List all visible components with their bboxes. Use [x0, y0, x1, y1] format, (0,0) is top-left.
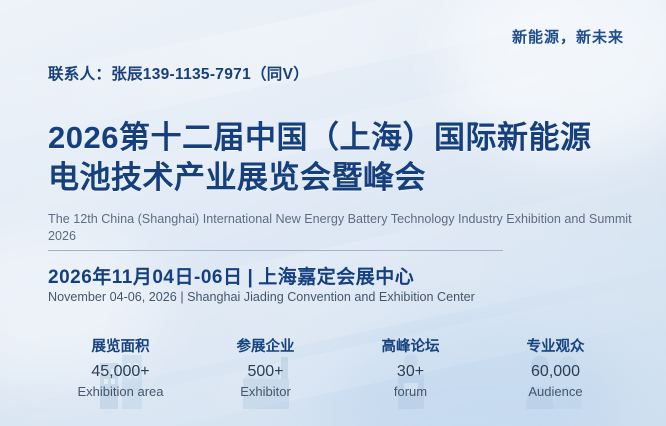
page-title: 2026第十二届中国（上海）国际新能源 电池技术产业展览会暨峰会 — [48, 118, 648, 197]
stat-sub: Exhibition area — [48, 384, 193, 399]
podium-icon — [378, 349, 444, 416]
event-date-cn: 2026年11月04日-06日 — [48, 267, 242, 288]
stat-label: 高峰论坛 — [338, 335, 483, 356]
stats-row: 展览面积 45,000+ Exhibition area 参展企业 500+ E… — [48, 335, 628, 399]
tagline: 新能源，新未来 — [512, 26, 624, 47]
event-venue-cn: 上海嘉定会展中心 — [258, 267, 414, 288]
stat-label: 专业观众 — [483, 335, 628, 356]
title-line-1: 2026第十二届中国（上海）国际新能源 — [48, 120, 591, 155]
stat-label: 展览面积 — [48, 335, 193, 356]
people-icon — [518, 349, 594, 416]
title-english: The 12th China (Shanghai) International … — [48, 211, 638, 246]
stat-sub: Exhibitor — [193, 384, 338, 399]
factory-icon — [233, 349, 299, 416]
stat-value: 60,000 — [483, 363, 628, 381]
stat-sub: Audience — [483, 384, 628, 399]
contact-info: 联系人：张辰139-1135-7971（同V） — [48, 62, 309, 84]
stat-value: 500+ — [193, 363, 338, 381]
building-icon — [88, 349, 154, 416]
poster-canvas: 新能源，新未来 联系人：张辰139-1135-7971（同V） 2026第十二届… — [0, 0, 666, 426]
stat-item: 高峰论坛 30+ forum — [338, 335, 483, 399]
title-line-2: 电池技术产业展览会暨峰会 — [48, 158, 648, 198]
stat-sub: forum — [338, 384, 483, 399]
stat-label: 参展企业 — [193, 335, 338, 356]
stat-item: 展览面积 45,000+ Exhibition area — [48, 335, 193, 399]
stat-item: 专业观众 60,000 Audience — [483, 335, 628, 399]
stat-item: 参展企业 500+ Exhibitor — [193, 335, 338, 399]
event-date-venue-en: November 04-06, 2026 | Shanghai Jiading … — [48, 290, 475, 304]
date-venue-separator: | — [247, 267, 253, 288]
stat-value: 45,000+ — [48, 363, 193, 381]
event-date-venue-cn: 2026年11月04日-06日|上海嘉定会展中心 — [48, 262, 414, 289]
divider — [48, 250, 503, 251]
stat-value: 30+ — [338, 363, 483, 381]
